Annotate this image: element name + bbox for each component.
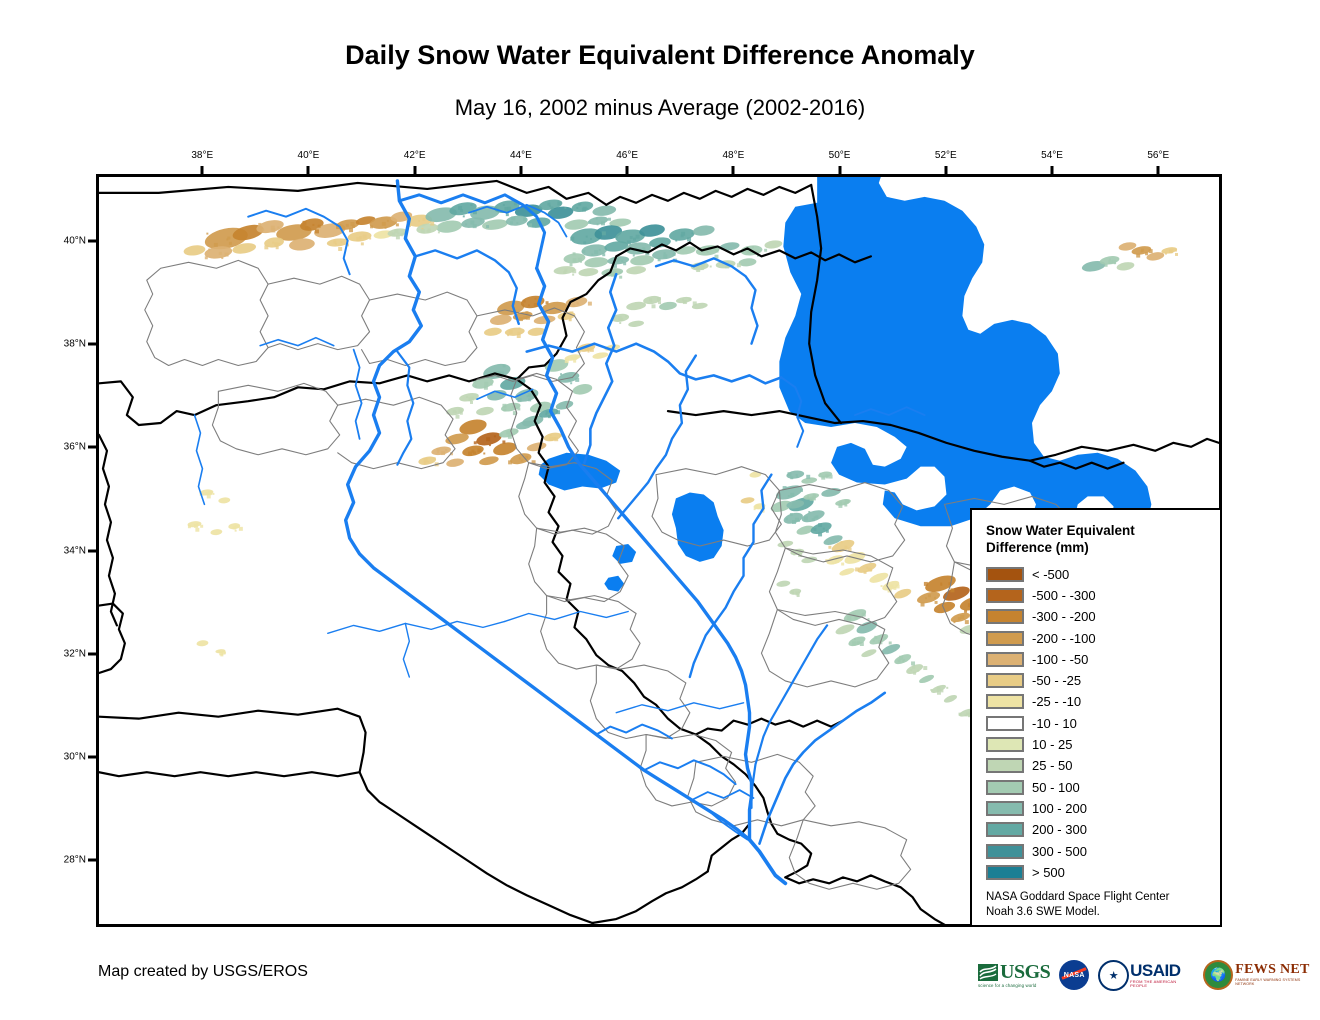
swe-anomaly-pixel (212, 493, 214, 495)
swe-anomaly-pixel (953, 621, 955, 623)
legend-item-label: -200 - -100 (1032, 631, 1096, 646)
swe-anomaly-pixel (1175, 253, 1178, 256)
swe-anomaly-pixel (691, 232, 693, 234)
legend-item[interactable]: 10 - 25 (986, 734, 1210, 755)
swe-anomaly-pixel (630, 236, 633, 239)
swe-anomaly-pixel (586, 208, 588, 210)
swe-anomaly-pixel (356, 237, 360, 241)
swe-anomaly-pixel (633, 238, 636, 241)
usaid-logo-tagline: FROM THE AMERICAN PEOPLE (1130, 980, 1194, 988)
legend-item-label: 200 - 300 (1032, 822, 1087, 837)
swe-anomaly-pixel (518, 398, 522, 402)
legend-item[interactable]: > 500 (986, 862, 1210, 883)
swe-anomaly-pixel (453, 410, 456, 413)
swe-anomaly-pixel (565, 359, 569, 363)
swe-anomaly-pixel (507, 334, 509, 336)
swe-anomaly-pixel (318, 225, 321, 228)
swe-anomaly-pixel (701, 267, 704, 270)
swe-anomaly-pixel (1105, 264, 1108, 267)
swe-anomaly-pixel (899, 656, 903, 660)
swe-anomaly-pixel (596, 217, 598, 219)
swe-anomaly-pixel (1175, 250, 1177, 252)
swe-anomaly-pixel (528, 398, 531, 401)
swe-anomaly-pixel (507, 207, 511, 211)
legend-swatch (986, 609, 1024, 624)
swe-anomaly-pixel (798, 592, 800, 594)
swe-anomaly-pixel (239, 527, 243, 531)
swe-anomaly-pixel (754, 508, 756, 510)
swe-anomaly-pixel (486, 225, 489, 228)
swe-anomaly-pixel (563, 271, 566, 274)
swe-anomaly-pixel (554, 437, 558, 441)
swe-anomaly-pixel (786, 518, 788, 520)
swe-anomaly-pixel (813, 528, 816, 531)
swe-anomaly-pixel (950, 588, 954, 592)
swe-anomaly-pixel (874, 636, 877, 639)
swe-anomaly-pixel (935, 601, 938, 604)
swe-anomaly-pixel (525, 311, 528, 314)
swe-anomaly-pixel (382, 222, 386, 226)
swe-anomaly-pixel (512, 406, 514, 408)
swe-anomaly-pixel (675, 240, 677, 242)
lat-tick (88, 446, 96, 449)
lat-tick (88, 549, 96, 552)
swe-anomaly-pixel (468, 452, 472, 456)
swe-anomaly-pixel (363, 235, 367, 239)
lat-tick (88, 755, 96, 758)
swe-anomaly-pixel (958, 713, 961, 716)
legend-item[interactable]: -300 - -200 (986, 606, 1210, 627)
legend-item[interactable]: 25 - 50 (986, 755, 1210, 776)
swe-anomaly-pixel (549, 437, 553, 441)
swe-anomaly-pixel (620, 271, 622, 273)
swe-anomaly-pixel (912, 666, 915, 669)
swe-anomaly-pixel (430, 222, 434, 226)
swe-anomaly-pixel (570, 263, 573, 266)
legend-swatch (986, 567, 1024, 582)
swe-anomaly-pixel (946, 687, 948, 689)
swe-anomaly-pixel (396, 223, 399, 226)
lon-tick (201, 166, 204, 174)
swe-anomaly-pixel (855, 617, 858, 620)
swe-anomaly-pixel (599, 249, 601, 251)
swe-anomaly-pixel (227, 237, 230, 240)
swe-anomaly-pixel (885, 637, 887, 639)
swe-anomaly-pixel (458, 409, 462, 413)
swe-anomaly-pixel (477, 448, 481, 452)
swe-anomaly-pixel (937, 687, 941, 691)
swe-anomaly-pixel (486, 437, 490, 441)
legend-item-label: > 500 (1032, 865, 1065, 880)
lon-tick-label: 48°E (722, 150, 744, 161)
swe-anomaly-pixel (688, 298, 691, 301)
swe-anomaly-pixel (556, 410, 560, 414)
swe-anomaly-pixel (503, 364, 506, 367)
swe-anomaly-pixel (503, 409, 506, 412)
legend-swatch (986, 673, 1024, 688)
usaid-logo[interactable]: ★ USAID FROM THE AMERICAN PEOPLE (1098, 960, 1194, 990)
swe-anomaly-pixel (790, 476, 793, 479)
swe-anomaly-pixel (200, 525, 203, 528)
swe-anomaly-pixel (384, 227, 386, 229)
usgs-logo-text: USGS (1000, 962, 1050, 982)
swe-anomaly-pixel (572, 274, 574, 276)
swe-anomaly-pixel (787, 472, 791, 476)
legend-item-label: -500 - -300 (1032, 588, 1096, 603)
lat-tick (88, 343, 96, 346)
swe-anomaly-pixel (346, 224, 349, 227)
swe-anomaly-pixel (422, 224, 424, 226)
swe-anomaly-pixel (844, 504, 847, 507)
swe-anomaly-pixel (588, 221, 591, 224)
swe-anomaly-pixel (434, 457, 436, 459)
swe-anomaly-pixel (468, 397, 472, 401)
swe-anomaly-pixel (573, 360, 576, 363)
swe-anomaly-pixel (821, 476, 825, 480)
swe-anomaly-pixel (491, 384, 493, 386)
swe-anomaly-pixel (195, 528, 199, 532)
swe-anomaly-pixel (923, 666, 927, 670)
legend-item[interactable]: -200 - -100 (986, 627, 1210, 648)
legend-item-label: < -500 (1032, 567, 1069, 582)
swe-anomaly-pixel (473, 224, 477, 228)
legend-item[interactable]: 50 - 100 (986, 777, 1210, 798)
swe-anomaly-pixel (819, 473, 821, 475)
swe-anomaly-pixel (519, 317, 523, 321)
swe-anomaly-pixel (534, 298, 536, 300)
swe-anomaly-pixel (616, 236, 618, 238)
legend-swatch (986, 694, 1024, 709)
swe-anomaly-pixel (224, 652, 226, 654)
swe-anomaly-pixel (597, 223, 599, 225)
swe-anomaly-pixel (557, 201, 561, 205)
swe-anomaly-pixel (225, 253, 229, 257)
swe-anomaly-pixel (937, 691, 941, 695)
swe-anomaly-pixel (564, 207, 566, 209)
legend-item-label: -50 - -25 (1032, 673, 1081, 688)
swe-anomaly-pixel (517, 407, 520, 410)
lat-tick (88, 240, 96, 243)
nasa-logo-text: NASA (1064, 972, 1085, 979)
legend-swatch (986, 780, 1024, 795)
swe-anomaly-pixel (658, 301, 661, 304)
swe-anomaly-pixel (548, 415, 551, 418)
legend-title-line1: Snow Water Equivalent (986, 522, 1210, 539)
swe-anomaly-pixel (921, 603, 925, 607)
swe-anomaly-pixel (219, 252, 222, 255)
swe-anomaly-pixel (208, 491, 212, 495)
lat-tick-label: 32°N (44, 648, 86, 659)
swe-anomaly-pixel (1145, 252, 1148, 255)
swe-anomaly-pixel (710, 266, 712, 268)
lat-tick-label: 28°N (44, 854, 86, 865)
swe-anomaly-pixel (792, 593, 794, 595)
swe-anomaly-pixel (258, 223, 261, 226)
usgs-logo[interactable]: USGS science for a changing world (978, 960, 1050, 990)
legend-swatch (986, 801, 1024, 816)
swe-anomaly-pixel (823, 528, 825, 530)
swe-anomaly-pixel (387, 220, 389, 222)
lon-tick (307, 166, 310, 174)
legend-item[interactable]: 300 - 500 (986, 840, 1210, 861)
swe-anomaly-pixel (832, 563, 834, 565)
swe-anomaly-pixel (964, 610, 967, 613)
swe-anomaly-pixel (312, 224, 314, 226)
swe-anomaly-pixel (506, 213, 509, 216)
swe-anomaly-pixel (642, 247, 645, 250)
swe-anomaly-pixel (466, 396, 468, 398)
usaid-seal-icon: ★ (1098, 960, 1129, 991)
swe-anomaly-pixel (1136, 254, 1140, 258)
lat-tick (88, 858, 96, 861)
swe-anomaly-pixel (619, 322, 621, 324)
swe-anomaly-pixel (546, 411, 549, 414)
legend-item-label: -100 - -50 (1032, 652, 1088, 667)
swe-anomaly-pixel (791, 590, 794, 593)
swe-anomaly-pixel (463, 215, 465, 217)
swe-anomaly-pixel (847, 616, 851, 620)
legend-item[interactable]: -100 - -50 (986, 649, 1210, 670)
swe-anomaly-pixel (233, 527, 236, 530)
swe-anomaly-pixel (684, 301, 686, 303)
swe-anomaly-pixel (400, 233, 403, 236)
swe-anomaly-pixel (262, 229, 264, 231)
swe-anomaly-pixel (421, 229, 425, 233)
swe-anomaly-pixel (716, 250, 719, 253)
legend-item-label: 25 - 50 (1032, 758, 1072, 773)
swe-anomaly-pixel (573, 252, 576, 255)
swe-anomaly-pixel (576, 302, 578, 304)
swe-anomaly-pixel (910, 669, 912, 671)
swe-anomaly-pixel (586, 236, 588, 238)
swe-anomaly-pixel (473, 451, 476, 454)
swe-anomaly-pixel (523, 300, 526, 303)
legend-swatch (986, 652, 1024, 667)
lon-tick (944, 166, 947, 174)
swe-anomaly-pixel (917, 670, 919, 672)
lon-tick (519, 166, 522, 174)
swe-anomaly-pixel (188, 525, 191, 528)
legend-note-line1: NASA Goddard Space Flight Center (986, 890, 1210, 905)
swe-anomaly-pixel (523, 316, 526, 319)
swe-anomaly-pixel (424, 458, 428, 462)
fews-net-logo[interactable]: 🌍 FEWS NET FAMINE EARLY WARNING SYSTEMS … (1203, 960, 1320, 990)
swe-anomaly-pixel (590, 238, 592, 240)
swe-anomaly-pixel (474, 441, 477, 444)
swe-anomaly-pixel (818, 523, 822, 527)
swe-anomaly-pixel (523, 218, 526, 221)
swe-anomaly-pixel (707, 251, 709, 253)
swe-anomaly-pixel (441, 451, 445, 455)
swe-anomaly-pixel (844, 546, 847, 549)
swe-anomaly-pixel (437, 451, 439, 453)
swe-anomaly-pixel (649, 298, 652, 301)
lat-tick-label: 34°N (44, 545, 86, 556)
swe-anomaly-pixel (608, 218, 611, 221)
swe-anomaly-pixel (569, 318, 572, 321)
swe-anomaly-pixel (305, 227, 308, 230)
swe-anomaly-pixel (583, 207, 587, 211)
legend-swatch (986, 737, 1024, 752)
swe-anomaly-pixel (627, 240, 631, 244)
lon-tick-label: 54°E (1041, 150, 1063, 161)
swe-anomaly-pixel (475, 385, 477, 387)
swe-anomaly-pixel (752, 246, 754, 248)
swe-anomaly-pixel (519, 457, 521, 459)
lat-tick-label: 36°N (44, 442, 86, 453)
swe-anomaly-pixel (1108, 260, 1112, 264)
swe-anomaly-pixel (546, 301, 549, 304)
swe-anomaly-pixel (934, 597, 936, 599)
swe-anomaly-pixel (796, 474, 798, 476)
swe-anomaly-pixel (807, 495, 809, 497)
swe-anomaly-pixel (590, 348, 594, 352)
swe-anomaly-pixel (465, 223, 467, 225)
swe-anomaly-pixel (277, 226, 279, 228)
swe-anomaly-pixel (925, 597, 927, 599)
swe-anomaly-pixel (560, 373, 562, 375)
swe-anomaly-pixel (333, 241, 336, 244)
swe-anomaly-pixel (511, 216, 515, 220)
swe-anomaly-pixel (583, 241, 586, 244)
swe-anomaly-pixel (494, 435, 496, 437)
swe-anomaly-pixel (804, 516, 808, 520)
swe-anomaly-pixel (862, 613, 866, 617)
legend-item[interactable]: -25 - -10 (986, 691, 1210, 712)
swe-anomaly-pixel (502, 440, 505, 443)
swe-anomaly-pixel (602, 231, 606, 235)
swe-anomaly-pixel (221, 257, 223, 259)
globe-icon: 🌍 (1203, 960, 1233, 990)
legend-item[interactable]: 100 - 200 (986, 798, 1210, 819)
legend-item-label: 300 - 500 (1032, 844, 1087, 859)
swe-anomaly-pixel (682, 299, 684, 301)
swe-anomaly-pixel (274, 242, 278, 246)
legend-item[interactable]: < -500 (986, 564, 1210, 585)
legend-swatch (986, 631, 1024, 646)
swe-anomaly-pixel (788, 495, 790, 497)
swe-anomaly-pixel (396, 235, 400, 239)
swe-anomaly-pixel (456, 415, 460, 419)
swe-anomaly-pixel (673, 253, 676, 256)
swe-anomaly-pixel (924, 582, 928, 586)
swe-anomaly-pixel (835, 559, 839, 563)
swe-anomaly-pixel (516, 222, 518, 224)
swe-anomaly-pixel (625, 315, 627, 317)
swe-anomaly-pixel (796, 476, 798, 478)
swe-anomaly-pixel (470, 221, 474, 225)
page-title: Daily Snow Water Equivalent Difference A… (0, 40, 1320, 71)
legend-item[interactable]: -50 - -25 (986, 670, 1210, 691)
swe-anomaly-pixel (636, 235, 640, 239)
swe-anomaly-pixel (940, 584, 942, 586)
swe-anomaly-pixel (760, 506, 762, 508)
nasa-logo[interactable]: NASA (1059, 960, 1089, 990)
lat-tick (88, 652, 96, 655)
swe-anomaly-pixel (500, 433, 502, 435)
swe-anomaly-pixel (797, 594, 800, 597)
legend-swatch (986, 588, 1024, 603)
usgs-wave-icon (978, 964, 998, 981)
swe-anomaly-pixel (437, 448, 440, 451)
legend-item-label: -300 - -200 (1032, 609, 1096, 624)
swe-anomaly-pixel (1149, 249, 1153, 253)
nasa-meatball-icon: NASA (1059, 960, 1089, 990)
usgs-logo-tagline: science for a changing world (978, 983, 1036, 988)
lon-tick-label: 56°E (1147, 150, 1169, 161)
lon-tick-label: 52°E (935, 150, 957, 161)
map-legend[interactable]: Snow Water Equivalent Difference (mm) < … (970, 508, 1222, 927)
swe-anomaly-pixel (502, 404, 506, 408)
swe-anomaly-pixel (623, 262, 626, 265)
swe-anomaly-pixel (369, 238, 371, 240)
legend-title-line2: Difference (mm) (986, 539, 1210, 556)
swe-anomaly-pixel (681, 232, 685, 236)
swe-anomaly-pixel (903, 659, 905, 661)
legend-swatch (986, 844, 1024, 859)
lon-tick (1051, 166, 1054, 174)
swe-anomaly-pixel (350, 222, 354, 226)
swe-anomaly-pixel (340, 241, 342, 243)
swe-anomaly-pixel (518, 327, 520, 329)
legend-note: NASA Goddard Space Flight Center Noah 3.… (986, 890, 1210, 920)
swe-anomaly-pixel (617, 258, 620, 261)
lon-tick-label: 40°E (298, 150, 320, 161)
legend-swatch (986, 716, 1024, 731)
swe-anomaly-pixel (798, 520, 800, 522)
swe-anomaly-pixel (445, 449, 447, 451)
swe-anomaly-pixel (841, 563, 844, 566)
swe-anomaly-pixel (264, 245, 268, 249)
swe-anomaly-pixel (484, 382, 488, 386)
swe-anomaly-pixel (896, 584, 900, 588)
swe-anomaly-pixel (812, 518, 815, 521)
legend-item[interactable]: 200 - 300 (986, 819, 1210, 840)
swe-anomaly-pixel (573, 258, 577, 262)
swe-anomaly-pixel (664, 252, 666, 254)
swe-anomaly-pixel (582, 250, 585, 253)
swe-anomaly-pixel (602, 253, 605, 256)
swe-anomaly-pixel (272, 242, 274, 244)
lon-tick (732, 166, 735, 174)
swe-anomaly-pixel (483, 452, 485, 454)
legend-item[interactable]: -500 - -300 (986, 585, 1210, 606)
swe-anomaly-pixel (336, 227, 338, 229)
agency-logos: USGS science for a changing world NASA ★… (978, 957, 1320, 993)
swe-anomaly-pixel (1109, 258, 1111, 260)
swe-anomaly-pixel (840, 559, 842, 561)
swe-anomaly-pixel (574, 356, 577, 359)
swe-anomaly-pixel (1169, 249, 1173, 253)
swe-anomaly-pixel (813, 498, 815, 500)
swe-anomaly-pixel (528, 304, 530, 306)
swe-anomaly-pixel (881, 585, 883, 587)
swe-anomaly-pixel (229, 242, 232, 245)
swe-anomaly-pixel (458, 206, 462, 210)
legend-swatch (986, 758, 1024, 773)
legend-item-label: -25 - -10 (1032, 694, 1081, 709)
legend-item[interactable]: -10 - 10 (986, 713, 1210, 734)
swe-anomaly-pixel (838, 504, 842, 508)
swe-anomaly-pixel (349, 228, 353, 232)
swe-anomaly-pixel (601, 221, 605, 225)
swe-anomaly-pixel (528, 393, 531, 396)
swe-anomaly-pixel (696, 268, 700, 272)
swe-anomaly-pixel (800, 489, 803, 492)
swe-anomaly-pixel (510, 221, 513, 224)
swe-anomaly-pixel (913, 672, 916, 675)
legend-item-label: 100 - 200 (1032, 801, 1087, 816)
